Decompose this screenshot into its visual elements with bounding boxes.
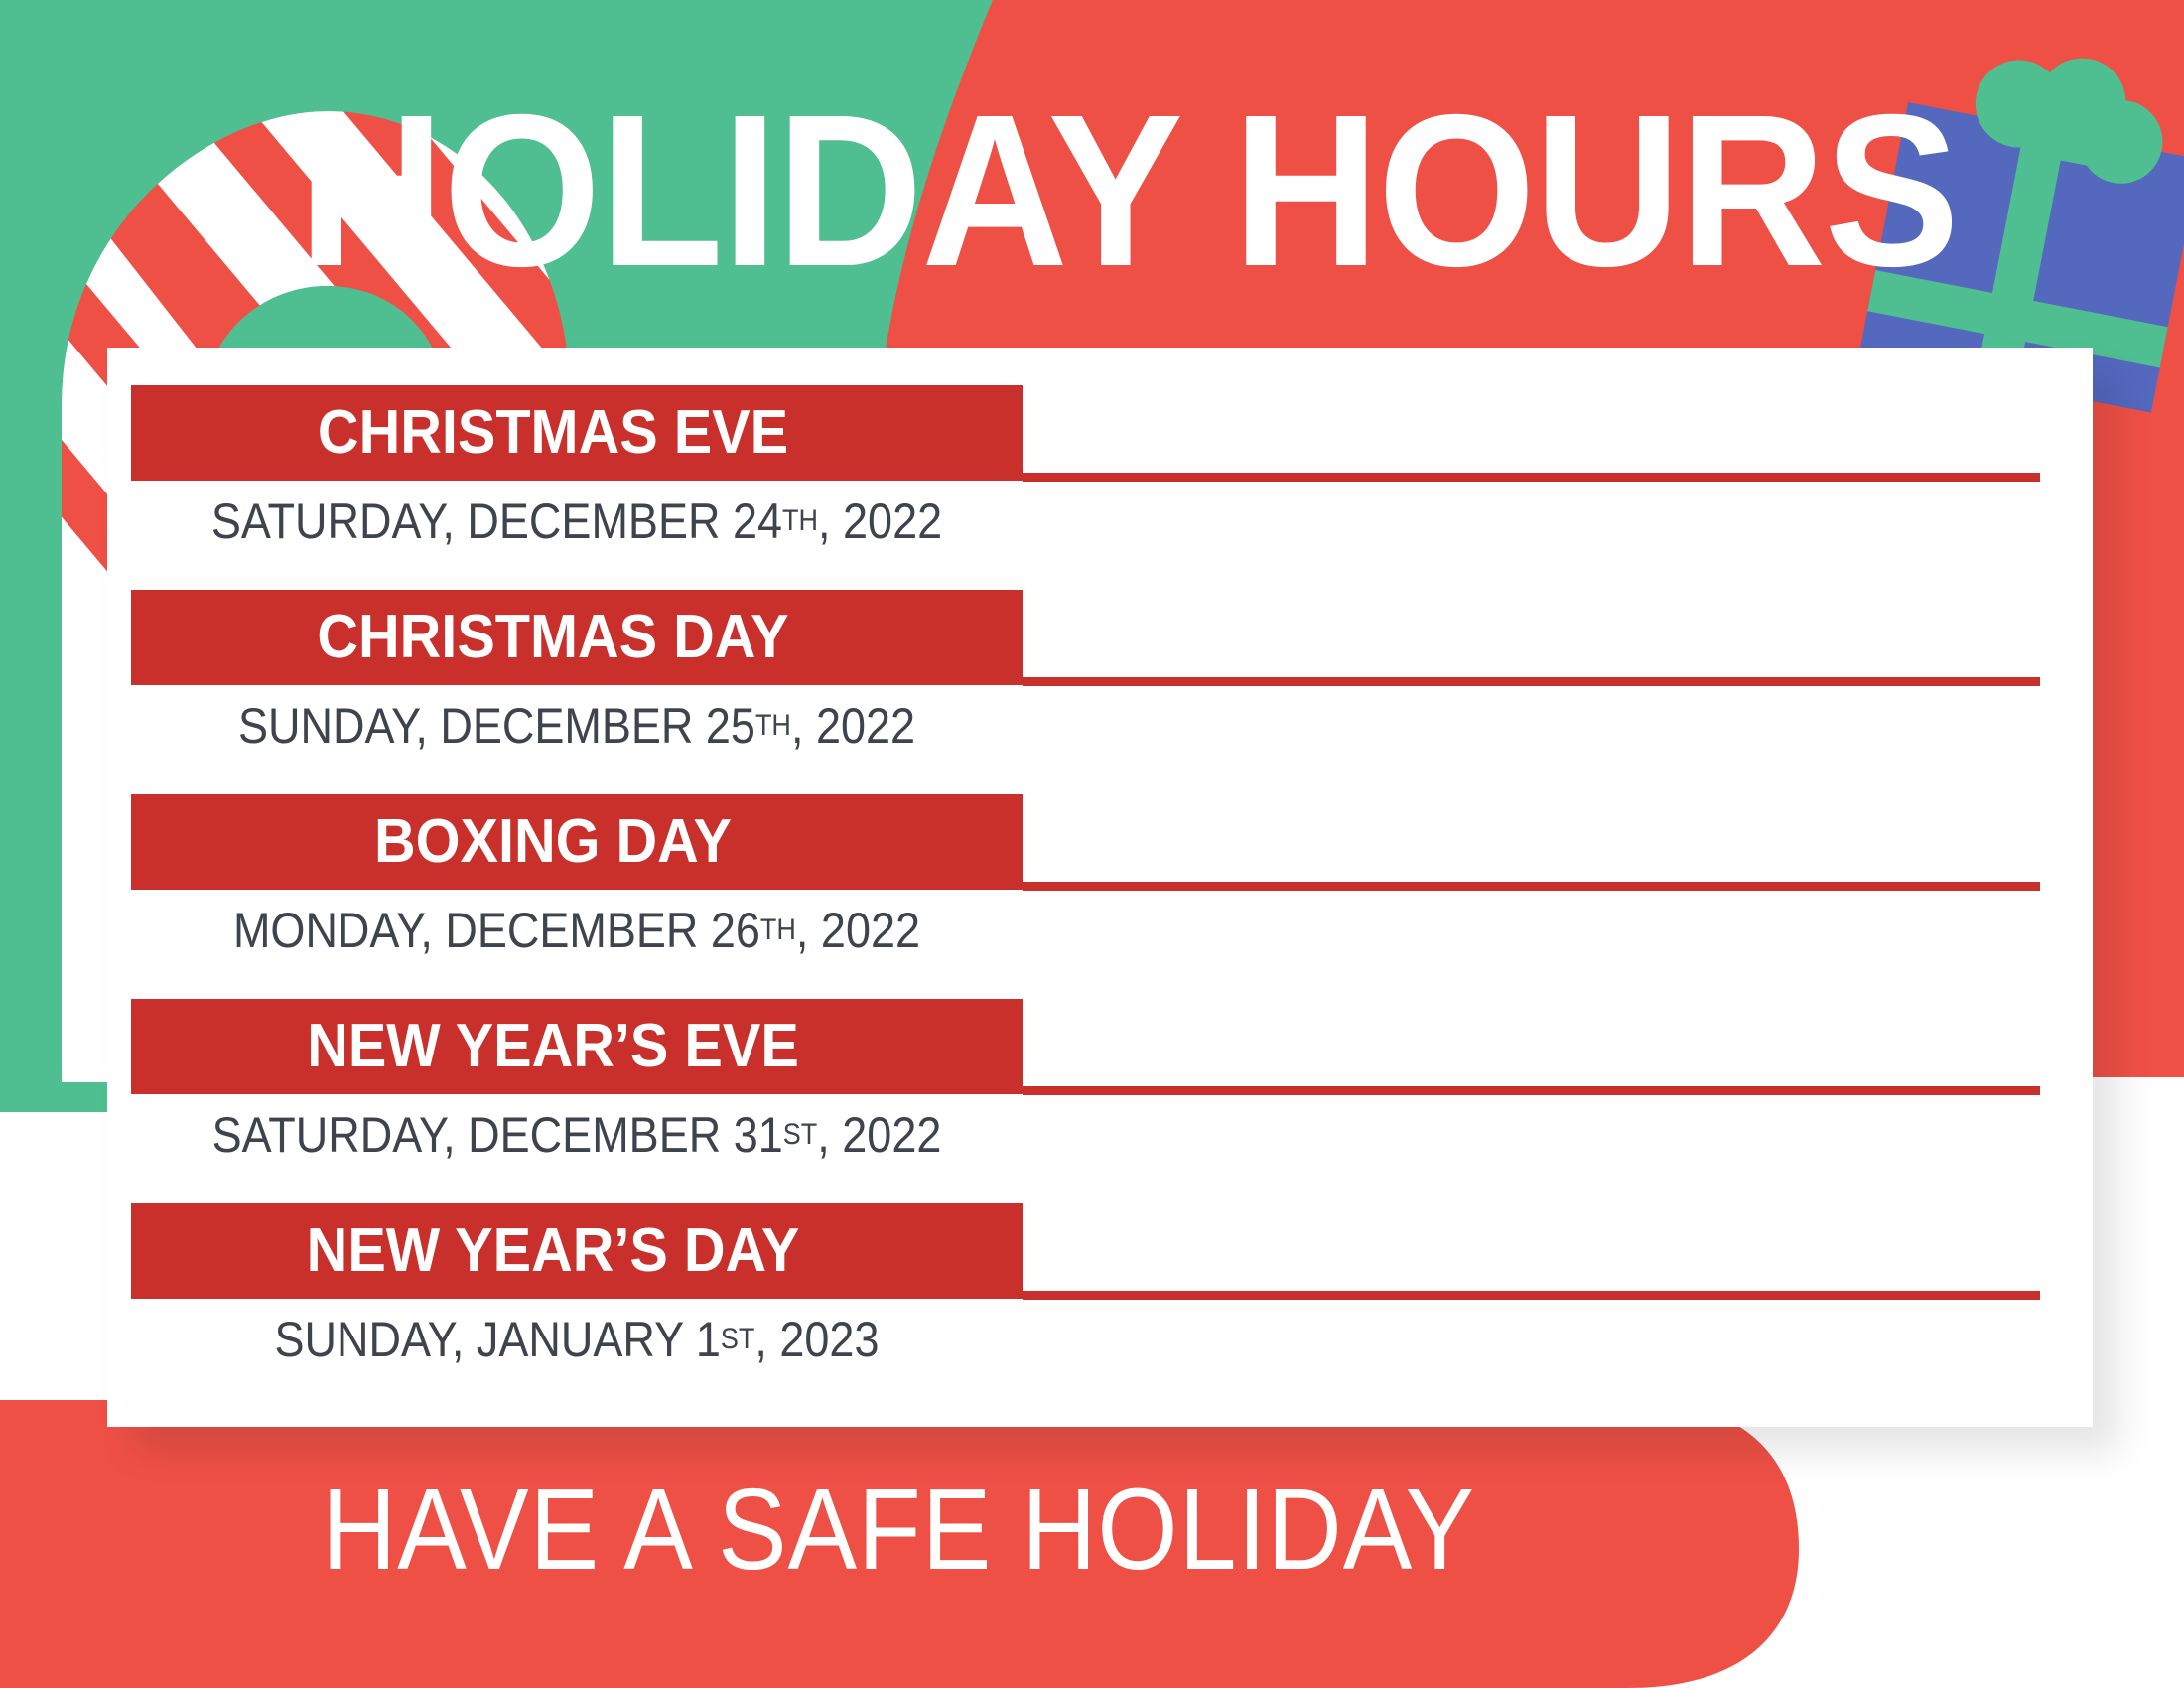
- date-year: , 2022: [791, 698, 915, 754]
- gift-bow: [1965, 39, 2176, 191]
- hours-write-in-rule: [1023, 882, 2040, 891]
- date-year: , 2022: [818, 493, 942, 549]
- holiday-name: NEW YEAR’S DAY: [138, 1203, 967, 1299]
- holiday-name: CHRISTMAS DAY: [138, 590, 967, 685]
- holiday-date: SATURDAY, DECEMBER 31ST, 2022: [176, 1098, 978, 1172]
- page-title: HOLIDAY HOURS: [298, 77, 1791, 306]
- hours-row-boxing-day: BOXING DAY MONDAY, DECEMBER 26TH, 2022: [107, 794, 2093, 977]
- hours-write-in-rule: [1023, 677, 2040, 686]
- hours-write-in-rule: [1023, 1086, 2040, 1095]
- holiday-date: SUNDAY, DECEMBER 25TH, 2022: [176, 689, 978, 763]
- holiday-date: SATURDAY, DECEMBER 24TH, 2022: [176, 485, 978, 558]
- date-year: , 2022: [796, 903, 920, 958]
- date-year: , 2022: [817, 1107, 941, 1163]
- date-weekday-month-day: MONDAY, DECEMBER 26: [233, 903, 760, 958]
- hours-list: CHRISTMAS EVE SATURDAY, DECEMBER 24TH, 2…: [107, 348, 2093, 1427]
- date-year: , 2023: [754, 1312, 879, 1367]
- footer-message: HAVE A SAFE HOLIDAY: [90, 1470, 1707, 1589]
- holiday-hours-poster: HOLIDAY HOURS CHRISTMAS EVE SATURDAY, DE…: [0, 0, 2184, 1688]
- hours-row-new-years-eve: NEW YEAR’S EVE SATURDAY, DECEMBER 31ST, …: [107, 999, 2093, 1182]
- hours-row-christmas-day: CHRISTMAS DAY SUNDAY, DECEMBER 25TH, 202…: [107, 590, 2093, 773]
- holiday-name: CHRISTMAS EVE: [138, 385, 967, 481]
- hours-row-new-years-day: NEW YEAR’S DAY SUNDAY, JANUARY 1ST, 2023: [107, 1203, 2093, 1386]
- date-weekday-month-day: SATURDAY, DECEMBER 24: [211, 493, 782, 549]
- hours-row-christmas-eve: CHRISTMAS EVE SATURDAY, DECEMBER 24TH, 2…: [107, 385, 2093, 568]
- date-weekday-month-day: SUNDAY, JANUARY 1: [275, 1312, 721, 1367]
- date-weekday-month-day: SATURDAY, DECEMBER 31: [212, 1107, 783, 1163]
- holiday-name: BOXING DAY: [138, 794, 967, 890]
- hours-write-in-rule: [1023, 473, 2040, 482]
- date-weekday-month-day: SUNDAY, DECEMBER 25: [238, 698, 755, 754]
- holiday-date: SUNDAY, JANUARY 1ST, 2023: [176, 1303, 978, 1376]
- hours-card: CHRISTMAS EVE SATURDAY, DECEMBER 24TH, 2…: [107, 348, 2093, 1427]
- holiday-date: MONDAY, DECEMBER 26TH, 2022: [176, 894, 978, 967]
- hours-write-in-rule: [1023, 1291, 2040, 1300]
- holiday-name: NEW YEAR’S EVE: [138, 999, 967, 1094]
